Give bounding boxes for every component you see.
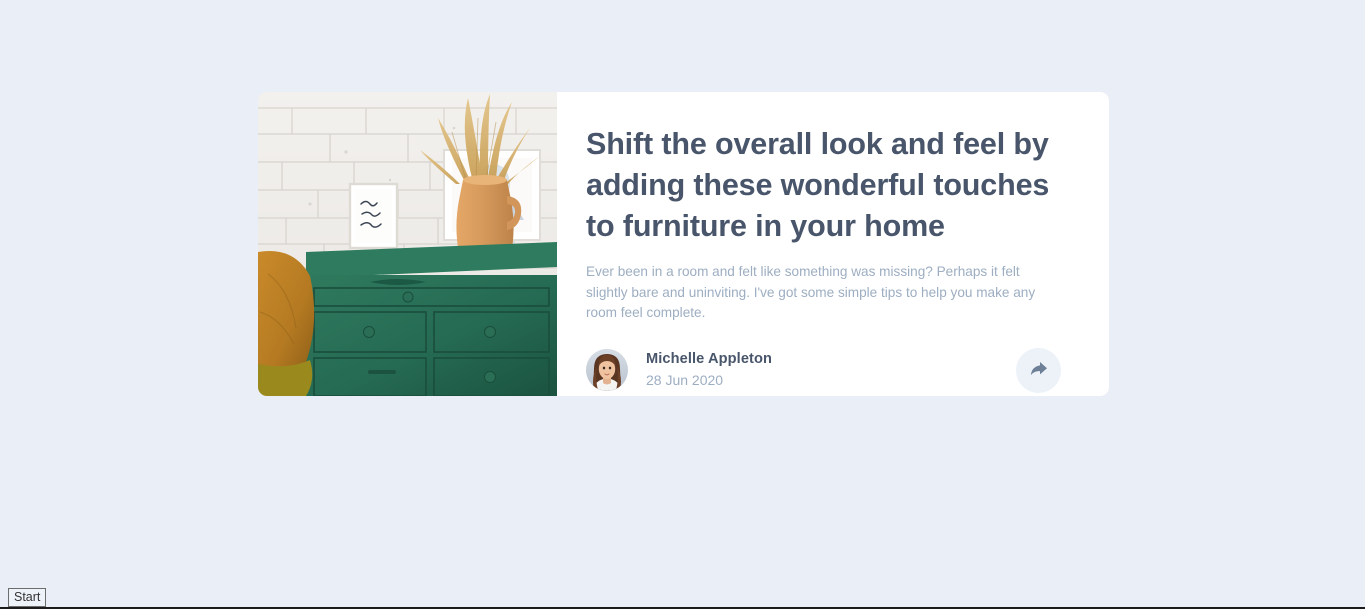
- page-background: Shift the overall look and feel by addin…: [0, 0, 1365, 583]
- share-arrow-icon: [1030, 362, 1047, 378]
- share-button[interactable]: [1016, 348, 1061, 393]
- drawers-image: [258, 92, 557, 396]
- author-name: Michelle Appleton: [646, 350, 772, 369]
- page-title: Shift the overall look and feel by addin…: [586, 124, 1061, 247]
- card-description: Ever been in a room and felt like someth…: [586, 262, 1061, 324]
- card-content: Shift the overall look and feel by addin…: [557, 92, 1109, 396]
- publish-date: 28 Jun 2020: [646, 371, 772, 390]
- author-row: Michelle Appleton 28 Jun 2020: [586, 348, 1061, 393]
- taskbar: Start: [0, 583, 1365, 609]
- avatar: [586, 349, 628, 391]
- article-preview-card: Shift the overall look and feel by addin…: [258, 92, 1109, 396]
- start-button[interactable]: Start: [8, 588, 46, 607]
- author-info: Michelle Appleton 28 Jun 2020: [646, 350, 772, 390]
